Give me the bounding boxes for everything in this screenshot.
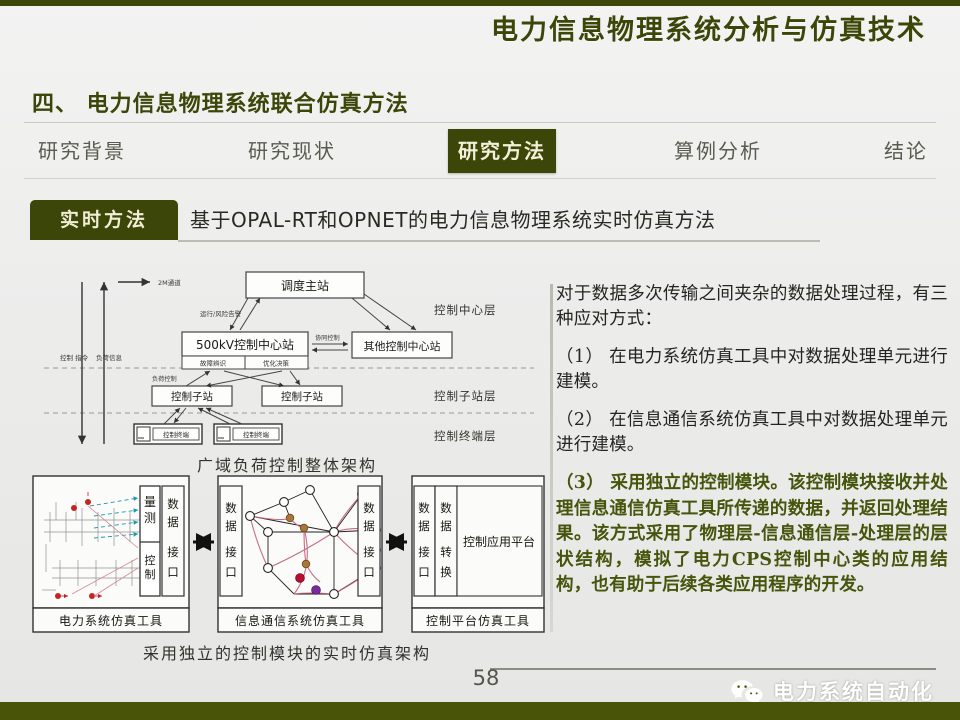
svg-text:数: 数	[440, 501, 452, 515]
svg-text:据: 据	[418, 519, 430, 533]
nav-item-case-analysis[interactable]: 算例分析	[664, 129, 772, 173]
svg-text:控制子站: 控制子站	[281, 390, 323, 403]
svg-text:电力系统仿真工具: 电力系统仿真工具	[59, 614, 163, 628]
nav-item-research-status[interactable]: 研究现状	[238, 129, 346, 173]
wechat-icon	[730, 679, 764, 703]
svg-text:运行/风险告警: 运行/风险告警	[200, 309, 242, 318]
svg-text:2M通道: 2M通道	[158, 278, 181, 287]
nav-item-conclusion[interactable]: 结论	[874, 129, 938, 173]
svg-text:口: 口	[167, 565, 179, 579]
svg-text:控制 指令: 控制 指令	[60, 353, 89, 362]
intro-paragraph: 对于数据多次传输之间夹杂的数据处理过程，有三种应对方式：	[556, 282, 948, 332]
svg-text:调度主站: 调度主站	[281, 278, 329, 293]
nav-divider	[24, 178, 936, 179]
approach-1-paragraph: （1） 在电力系统仿真工具中对数据处理单元进行建模。	[556, 345, 948, 395]
svg-text:控制终端: 控制终端	[163, 430, 190, 439]
svg-text:控制终端: 控制终端	[243, 430, 270, 439]
subsection-title: 基于OPAL-RT和OPNET的电力信息物理系统实时仿真方法	[190, 200, 716, 240]
explanation-panel: 对于数据多次传输之间夹杂的数据处理过程，有三种应对方式： （1） 在电力系统仿真…	[556, 282, 948, 612]
svg-text:据: 据	[225, 519, 237, 533]
svg-text:接: 接	[167, 545, 179, 559]
svg-text:控制中心层: 控制中心层	[434, 303, 497, 317]
nav-tabs: 研究背景 研究现状 研究方法 算例分析 结论	[24, 129, 936, 173]
svg-text:转: 转	[440, 545, 452, 559]
svg-text:口: 口	[363, 565, 375, 579]
svg-text:其他控制中心站: 其他控制中心站	[364, 339, 441, 353]
svg-text:据: 据	[167, 515, 179, 529]
svg-text:接: 接	[363, 545, 375, 559]
svg-text:制: 制	[145, 568, 156, 581]
svg-text:测: 测	[144, 511, 156, 525]
realtime-cosim-architecture-diagram: 电力系统仿真工具	[32, 472, 546, 636]
wide-area-load-control-diagram: 2M通道 控制 指令 负荷信息 调度主站 500kV控制中心站 故障辨识 优化决…	[34, 268, 540, 456]
svg-text:控: 控	[145, 553, 156, 567]
bottom-olive-band	[0, 702, 960, 720]
svg-text:负荷信息: 负荷信息	[96, 353, 123, 362]
page-number: 58	[466, 666, 506, 690]
subsection-rule	[178, 240, 820, 242]
svg-text:数: 数	[418, 501, 430, 515]
svg-text:据: 据	[363, 519, 375, 533]
svg-text:协同控制: 协同控制	[315, 334, 340, 342]
svg-text:控制子站层: 控制子站层	[434, 389, 497, 403]
svg-text:接: 接	[418, 545, 430, 559]
footer-rule	[490, 668, 936, 670]
subsection-header: 实时方法 基于OPAL-RT和OPNET的电力信息物理系统实时仿真方法	[30, 200, 820, 244]
svg-text:故障辨识: 故障辨识	[200, 359, 227, 368]
svg-text:控制应用平台: 控制应用平台	[463, 534, 535, 549]
approach-3-paragraph: （3） 采用独立的控制模块。该控制模块接收并处理信息通信仿真工具所传递的数据，并…	[556, 471, 948, 599]
svg-text:控制平台仿真工具: 控制平台仿真工具	[426, 613, 530, 628]
svg-text:500kV控制中心站: 500kV控制中心站	[196, 337, 294, 352]
svg-text:数: 数	[363, 501, 375, 515]
svg-text:数: 数	[225, 501, 237, 515]
svg-text:优化决策: 优化决策	[263, 359, 290, 368]
subsection-tag: 实时方法	[30, 200, 178, 240]
top-olive-band	[0, 0, 960, 6]
svg-text:数: 数	[167, 497, 179, 511]
nav-item-research-background[interactable]: 研究背景	[28, 129, 136, 173]
svg-text:控制终端层: 控制终端层	[434, 429, 497, 443]
left-accent-bar	[550, 284, 553, 632]
svg-text:接: 接	[225, 545, 237, 559]
svg-text:据: 据	[440, 519, 452, 533]
svg-text:信息通信系统仿真工具: 信息通信系统仿真工具	[235, 613, 365, 628]
approach-2-paragraph: （2） 在信息通信系统仿真工具中对数据处理单元进行建模。	[556, 408, 948, 458]
svg-text:口: 口	[225, 565, 237, 579]
slide: 电力信息物理系统分析与仿真技术 四、 电力信息物理系统联合仿真方法 研究背景 研…	[0, 0, 960, 720]
section-divider	[24, 122, 936, 123]
deck-title: 电力信息物理系统分析与仿真技术	[491, 8, 926, 47]
svg-text:量: 量	[144, 495, 156, 509]
svg-text:负荷控制: 负荷控制	[152, 375, 177, 383]
section-heading: 四、 电力信息物理系统联合仿真方法	[32, 86, 409, 118]
nav-item-research-method[interactable]: 研究方法	[448, 129, 556, 173]
svg-text:控制子站: 控制子站	[171, 390, 213, 403]
svg-text:换: 换	[440, 565, 452, 579]
svg-text:口: 口	[418, 565, 430, 579]
diagram2-caption: 采用独立的控制模块的实时仿真架构	[34, 640, 540, 664]
